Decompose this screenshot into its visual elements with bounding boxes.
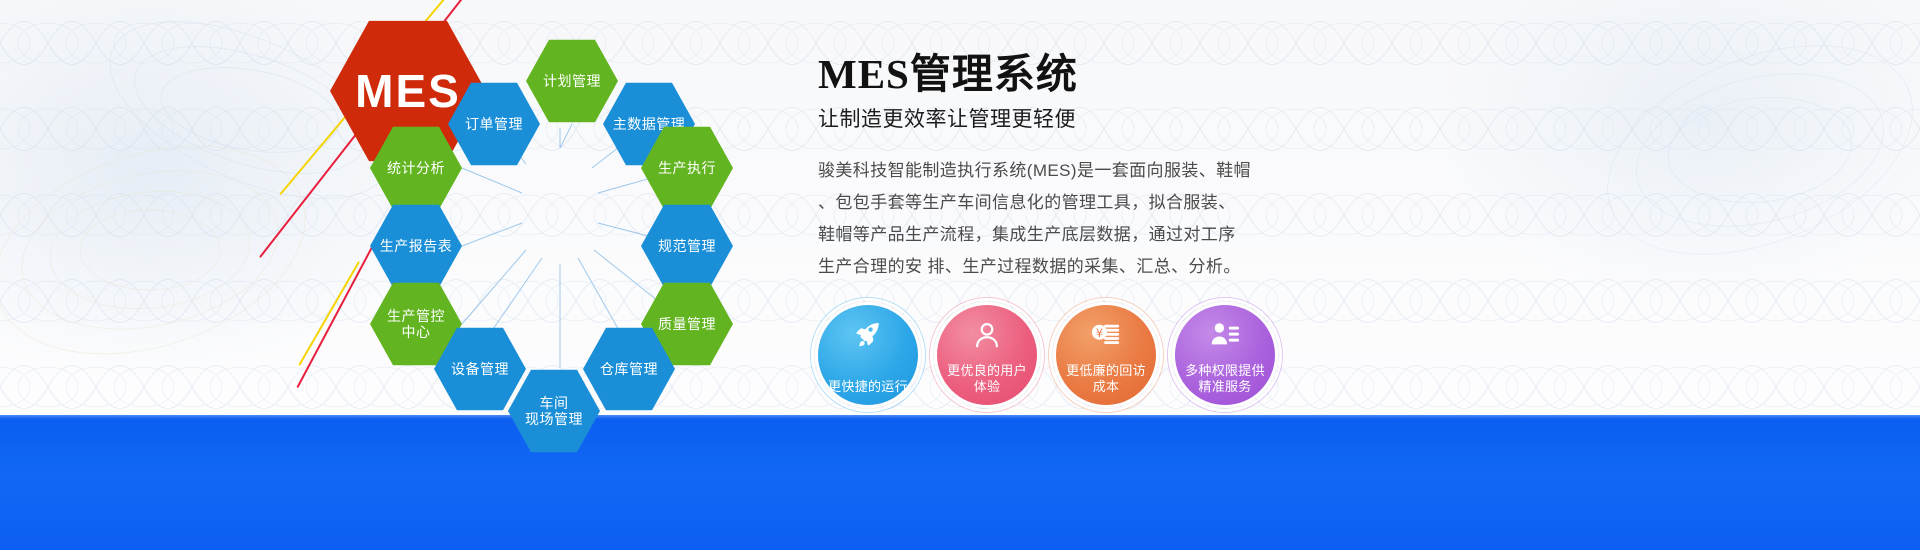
badge-ring (1168, 298, 1282, 412)
hex-node-label: 仓库管理 (600, 361, 658, 377)
paragraph-line-2: 、包包手套等生产车间信息化的管理工具，拟合服装、 (818, 187, 1338, 219)
badge-ring (1049, 298, 1163, 412)
paragraph-line-1: 骏美科技智能制造执行系统(MES)是一套面向服装、鞋帽 (818, 155, 1338, 187)
hex-center-label: MES (355, 65, 461, 118)
rocket-icon (851, 318, 885, 352)
hex-node-label: 计划管理 (543, 73, 601, 89)
hex-node-label: 设备管理 (451, 361, 509, 377)
hex-node-label: 车间现场管理 (525, 395, 583, 427)
page-title: MES管理系统 (818, 52, 1338, 97)
hex-node-label: 生产执行 (658, 160, 716, 176)
svg-text:¥: ¥ (1096, 327, 1103, 340)
hex-node-label: 订单管理 (465, 116, 523, 132)
hex-node-label: 统计分析 (387, 160, 445, 176)
hex-node-label: 质量管理 (658, 316, 716, 332)
hex-node-label: 生产报告表 (380, 238, 453, 254)
user-list-icon (1208, 318, 1242, 352)
page-subtitle: 让制造更效率让管理更轻便 (818, 103, 1338, 133)
hex-node-label: 生产管控中心 (387, 308, 445, 340)
badge-ring (930, 298, 1044, 412)
feature-badge-4[interactable]: 多种权限提供精准服务 (1175, 305, 1275, 405)
paragraph-line-3: 鞋帽等产品生产流程，集成生产底层数据，通过对工序 (818, 219, 1338, 251)
mes-banner: MES 计划管理订单管理主数据管理统计分析生产执行生产报告表规范管理生产管控中心… (0, 0, 1920, 550)
feature-badge-list: 更快捷的运行更优良的用户体验¥更低廉的回访成本多种权限提供精准服务 (818, 305, 1275, 405)
feature-badge-2[interactable]: 更优良的用户体验 (937, 305, 1037, 405)
feature-badge-3[interactable]: ¥更低廉的回访成本 (1056, 305, 1156, 405)
description-paragraph: 骏美科技智能制造执行系统(MES)是一套面向服装、鞋帽、包包手套等生产车间信息化… (818, 155, 1338, 283)
mes-hexagon-diagram: MES 计划管理订单管理主数据管理统计分析生产执行生产报告表规范管理生产管控中心… (330, 18, 790, 428)
hex-node-label: 规范管理 (658, 238, 716, 254)
feature-badge-1[interactable]: 更快捷的运行 (818, 305, 918, 405)
banner-text-column: MES管理系统 让制造更效率让管理更轻便 骏美科技智能制造执行系统(MES)是一… (818, 52, 1338, 283)
paragraph-line-4: 生产合理的安 排、生产过程数据的采集、汇总、分析。 (818, 251, 1338, 283)
background-bottom-band (0, 415, 1920, 550)
coin-stack-icon: ¥ (1089, 318, 1123, 352)
badge-ring (811, 298, 925, 412)
user-icon (970, 318, 1004, 352)
